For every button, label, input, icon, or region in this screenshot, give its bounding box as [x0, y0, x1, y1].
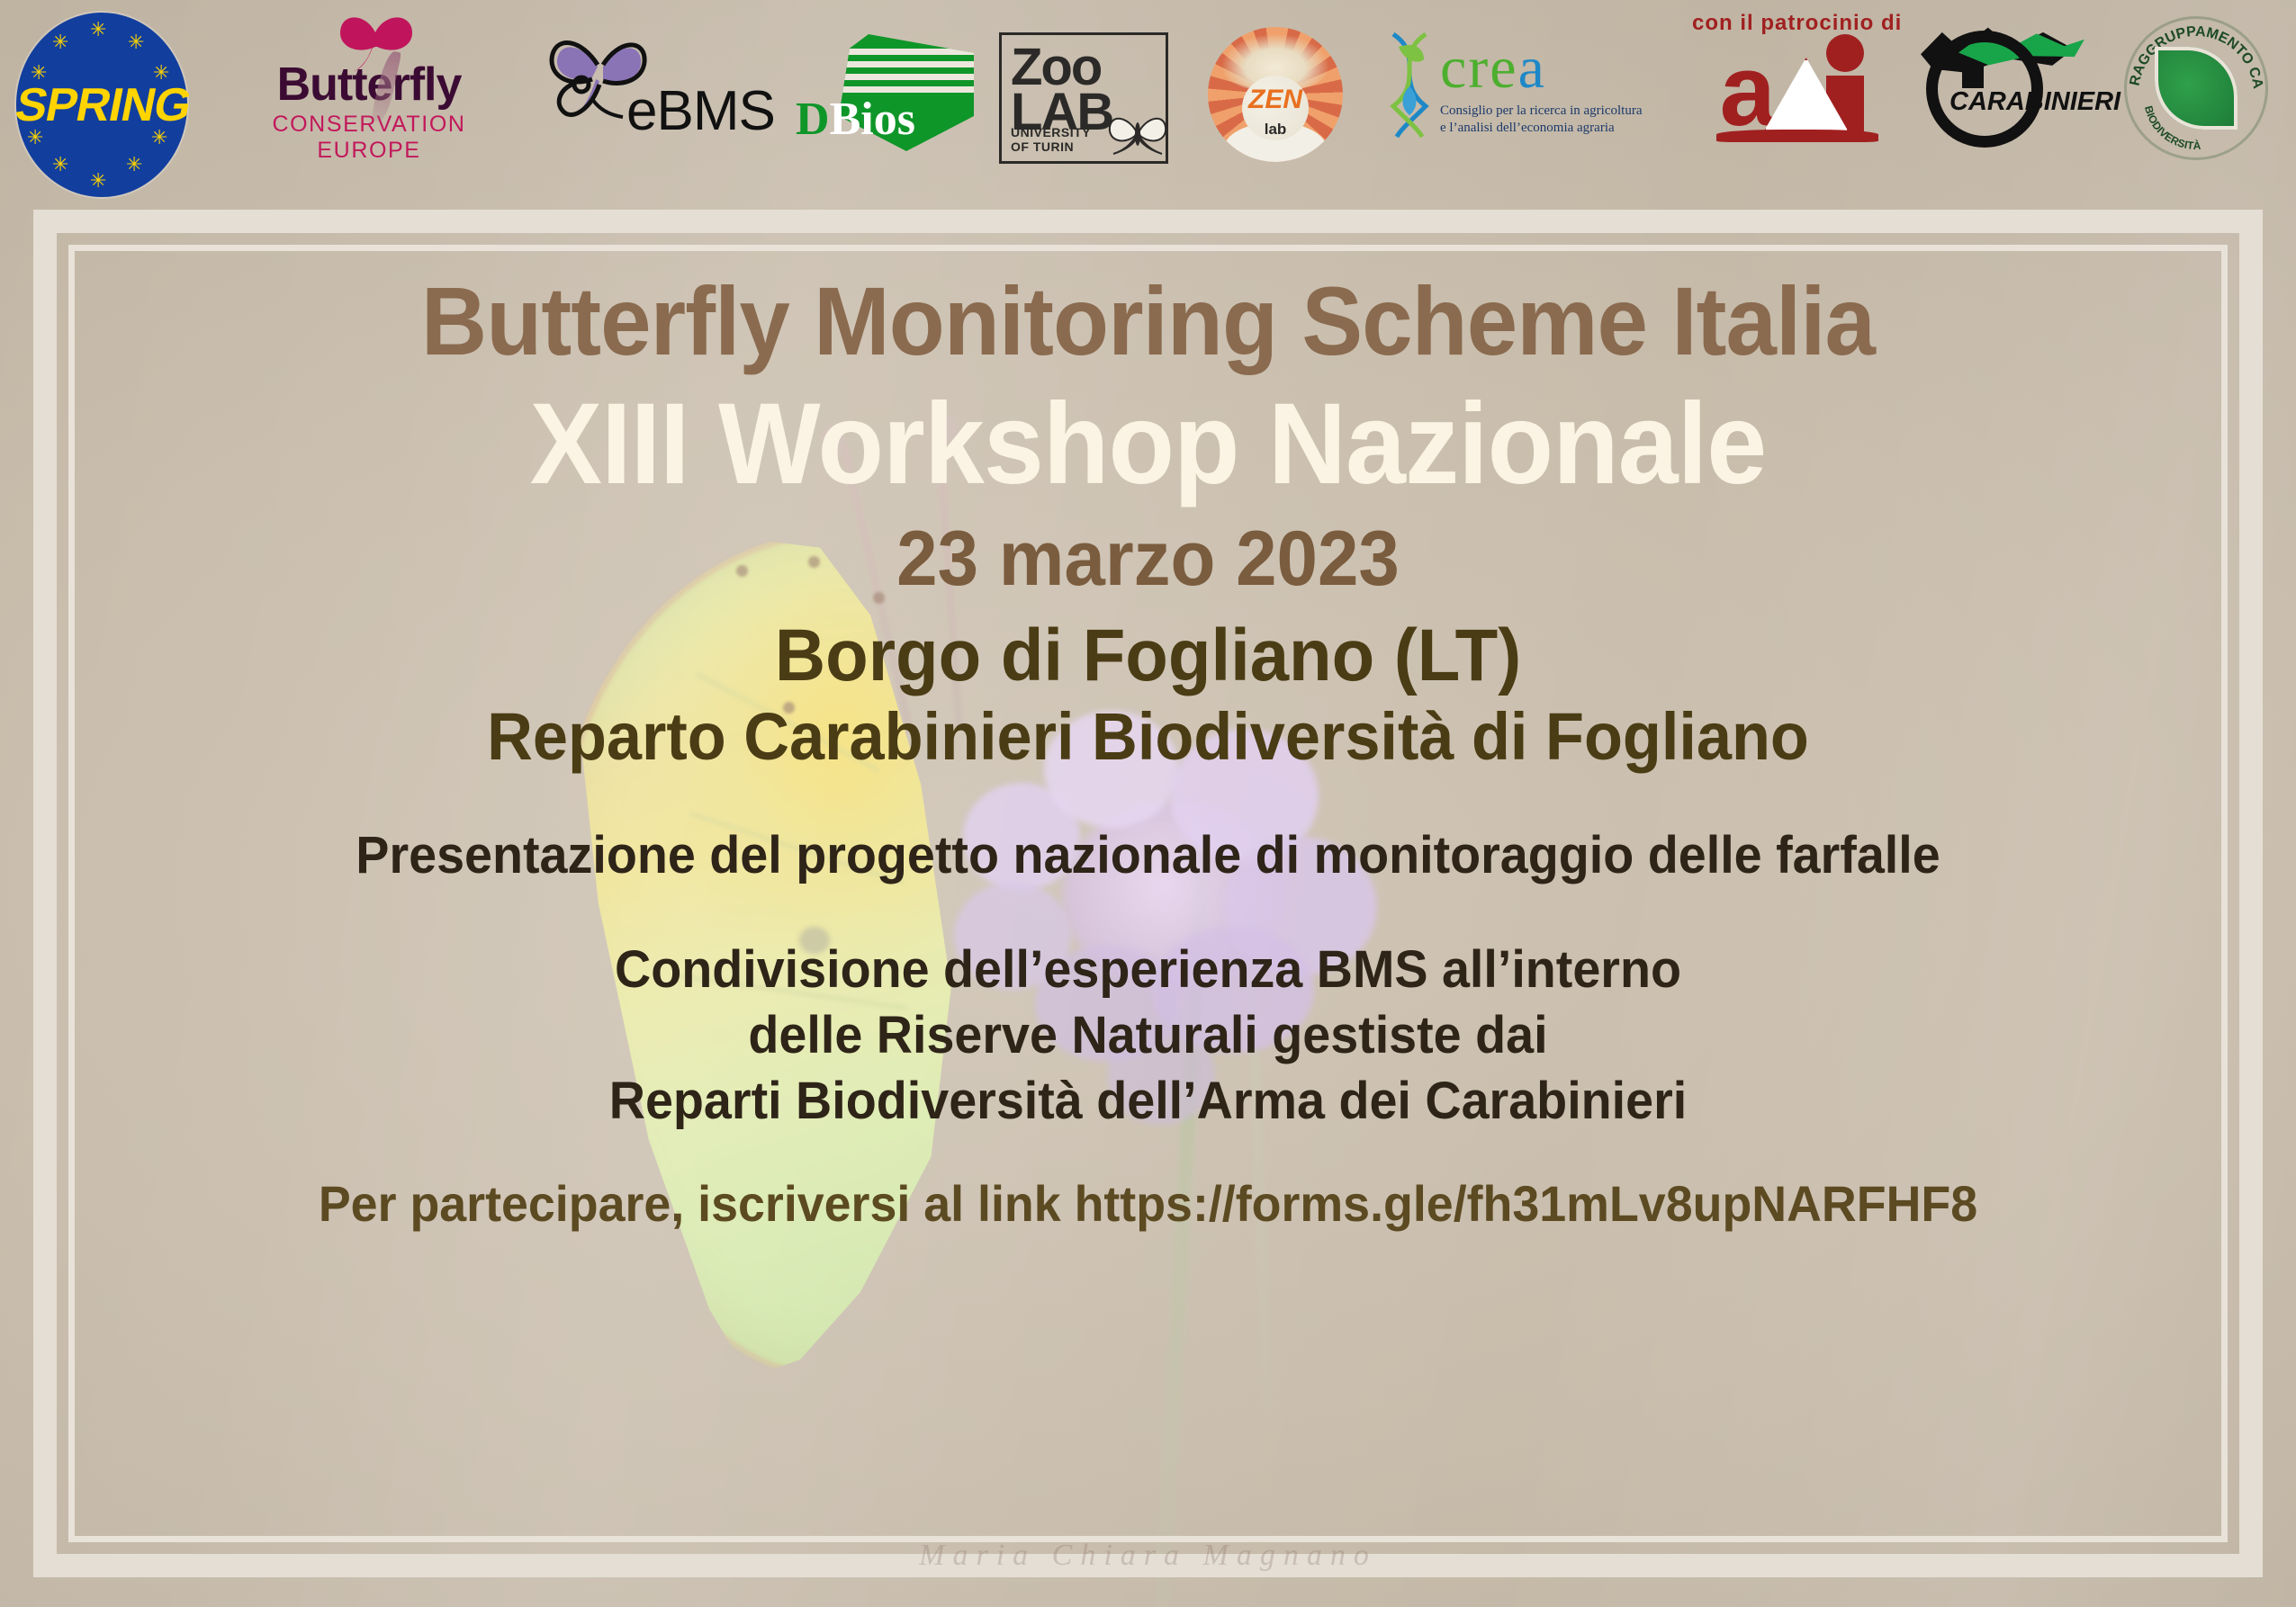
ali-patronage-label: con il patrocinio di [1692, 11, 1902, 36]
butterfly-subtitle: CONSERVATION EUROPE [221, 112, 518, 164]
ali-mark-icon: a [1716, 36, 1878, 142]
butterfly-icon [329, 5, 428, 82]
dbios-word-bios: Bios [830, 94, 915, 145]
crea-dna-icon [1384, 31, 1435, 139]
photo-credit-watermark: Maria Chiara Magnano [0, 1539, 2296, 1573]
poster-content: Butterfly Monitoring Scheme Italia XIII … [99, 270, 2197, 1234]
description-paragraph-2-line-2: delle Riserve Naturali gestiste dai [141, 1002, 2156, 1068]
carabinieri-emblem-icon: CARABINIERI [1906, 22, 2086, 148]
description-paragraph-2-line-1: Condivisione dell’esperienza BMS all’int… [141, 937, 2156, 1002]
poster-canvas: ✳ ✳ ✳ ✳ ✳ ✳ ✳ ✳ ✳ ✳ SPRING [0, 0, 2296, 1607]
logo-zoolab: Zoo LAB UNIVERSITY OF TURIN [999, 32, 1168, 164]
zenlab-word-lab: lab [1208, 121, 1343, 139]
crea-subtitle-line2: e l’analisi dell’economia agraria [1440, 120, 1701, 137]
ali-book-icon [1716, 130, 1878, 142]
registration-link-line[interactable]: Per partecipare, iscriversi al link http… [141, 1173, 2156, 1234]
page-title: Butterfly Monitoring Scheme Italia [162, 270, 2134, 372]
zoolab-university: UNIVERSITY [1011, 125, 1091, 139]
event-venue-name: Reparto Carabinieri Biodiversità di Fogl… [151, 700, 2144, 773]
description-paragraph-2-line-3: Reparti Biodiversità dell’Arma dei Carab… [141, 1068, 2156, 1134]
zenlab-word-zen: ZEN [1208, 85, 1343, 115]
logo-ebms: eBMS [540, 27, 738, 171]
event-venue-city: Borgo di Fogliano (LT) [151, 615, 2144, 696]
poster-headline: XIII Workshop Nazionale [162, 384, 2134, 505]
zoolab-frame: Zoo LAB UNIVERSITY OF TURIN [999, 32, 1168, 164]
logo-dbios: DBios [792, 31, 981, 166]
zoolab-butterfly-icon [1104, 107, 1171, 157]
description-paragraph-1: Presentazione del progetto nazionale di … [141, 822, 2156, 888]
ali-dot-icon [1826, 34, 1864, 72]
logo-zenlab: ZEN lab [1208, 27, 1343, 162]
sponsor-logo-bar: ✳ ✳ ✳ ✳ ✳ ✳ ✳ ✳ ✳ ✳ SPRING [0, 0, 2296, 202]
crea-subtitle-line1: Consiglio per la ricerca in agricoltura [1440, 103, 1701, 120]
logo-butterfly-conservation-europe: Butterfly CONSERVATION EUROPE [221, 58, 518, 164]
carabinieri-wordmark: CARABINIERI [1949, 87, 2120, 117]
zoolab-of-turin: OF TURIN [1011, 139, 1091, 154]
ali-letter-a: a [1720, 51, 1776, 130]
logo-carabinieri: CARABINIERI [1906, 22, 2086, 148]
dbios-letter-d: D [796, 94, 830, 145]
ebms-wordmark: eBMS [626, 79, 775, 143]
logo-raggruppamento-biodiversita: RAGGRUPPAMENTO CARABINIERI BIODIVERSITÀ [2124, 16, 2268, 160]
spring-oval-icon: ✳ ✳ ✳ ✳ ✳ ✳ ✳ ✳ ✳ ✳ SPRING [16, 13, 187, 197]
crea-wordmark: crea [1440, 34, 1701, 103]
spring-wordmark: SPRING [11, 78, 193, 132]
biodiversita-seal-icon: RAGGRUPPAMENTO CARABINIERI BIODIVERSITÀ [2124, 16, 2268, 160]
zenlab-seal-icon: ZEN lab [1208, 27, 1343, 162]
logo-crea: crea Consiglio per la ricerca in agricol… [1440, 34, 1701, 137]
event-date: 23 marzo 2023 [151, 518, 2144, 599]
logo-spring: ✳ ✳ ✳ ✳ ✳ ✳ ✳ ✳ ✳ ✳ SPRING [16, 13, 187, 197]
logo-ali: con il patrocinio di a [1692, 11, 1902, 142]
